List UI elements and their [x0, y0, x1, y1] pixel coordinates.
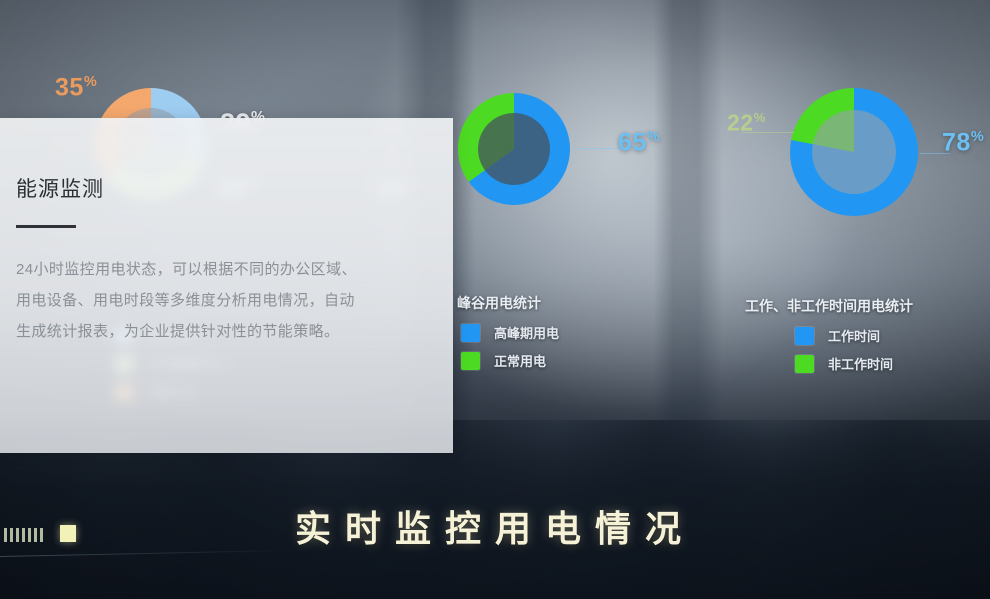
- legend-label: 工作时间: [828, 326, 880, 345]
- panel-description: 24小时监控用电状态，可以根据不同的办公区域、用电设备、用电时段等多维度分析用电…: [16, 254, 361, 347]
- headline-text: 实时监控用电情况: [0, 500, 990, 552]
- legend-swatch: [795, 355, 814, 373]
- legend-swatch: [461, 324, 480, 342]
- chart-value-label: 35%: [55, 75, 97, 100]
- chart-value-label: 22%: [727, 111, 766, 135]
- status-square-icon: [60, 525, 76, 542]
- chart-title: 峰谷用电统计: [457, 293, 541, 313]
- donut-worktime-usage: [790, 88, 918, 216]
- chart-legend-worktime: 工作时间 非工作时间: [795, 326, 893, 382]
- panel-title: 能源监测: [16, 173, 453, 203]
- legend-swatch: [461, 352, 480, 370]
- legend-swatch: [795, 327, 814, 345]
- legend-label: 非工作时间: [828, 354, 893, 373]
- slide-stage: 29% 36% 35% 研发中心 市场营销中心 职能中心 65% 35% 峰谷用…: [0, 0, 990, 599]
- legend-item[interactable]: 工作时间: [795, 326, 893, 345]
- legend-item[interactable]: 正常用电: [461, 351, 559, 370]
- chart-title: 工作、非工作时间用电统计: [745, 296, 913, 316]
- chart-value-label: 78%: [942, 130, 984, 155]
- legend-item[interactable]: 高峰期用电: [461, 323, 559, 342]
- legend-label: 正常用电: [494, 351, 546, 370]
- legend-item[interactable]: 非工作时间: [795, 354, 893, 373]
- tick-marks-icon: [4, 526, 46, 542]
- chart-peak-valley-usage: 65% 35% 峰谷用电统计 高峰期用电 正常用电: [458, 93, 570, 205]
- chart-worktime-usage: 78% 22% 工作、非工作时间用电统计 工作时间 非工作时间: [790, 88, 918, 216]
- donut-peak-valley-usage: [458, 93, 570, 205]
- bottom-left-indicator: [4, 525, 76, 542]
- chart-legend-peak-valley: 高峰期用电 正常用电: [461, 323, 559, 379]
- chart-value-label: 65%: [618, 130, 660, 155]
- title-divider: [16, 225, 76, 228]
- energy-monitoring-panel: 能源监测 24小时监控用电状态，可以根据不同的办公区域、用电设备、用电时段等多维…: [0, 118, 453, 453]
- legend-label: 高峰期用电: [494, 323, 559, 342]
